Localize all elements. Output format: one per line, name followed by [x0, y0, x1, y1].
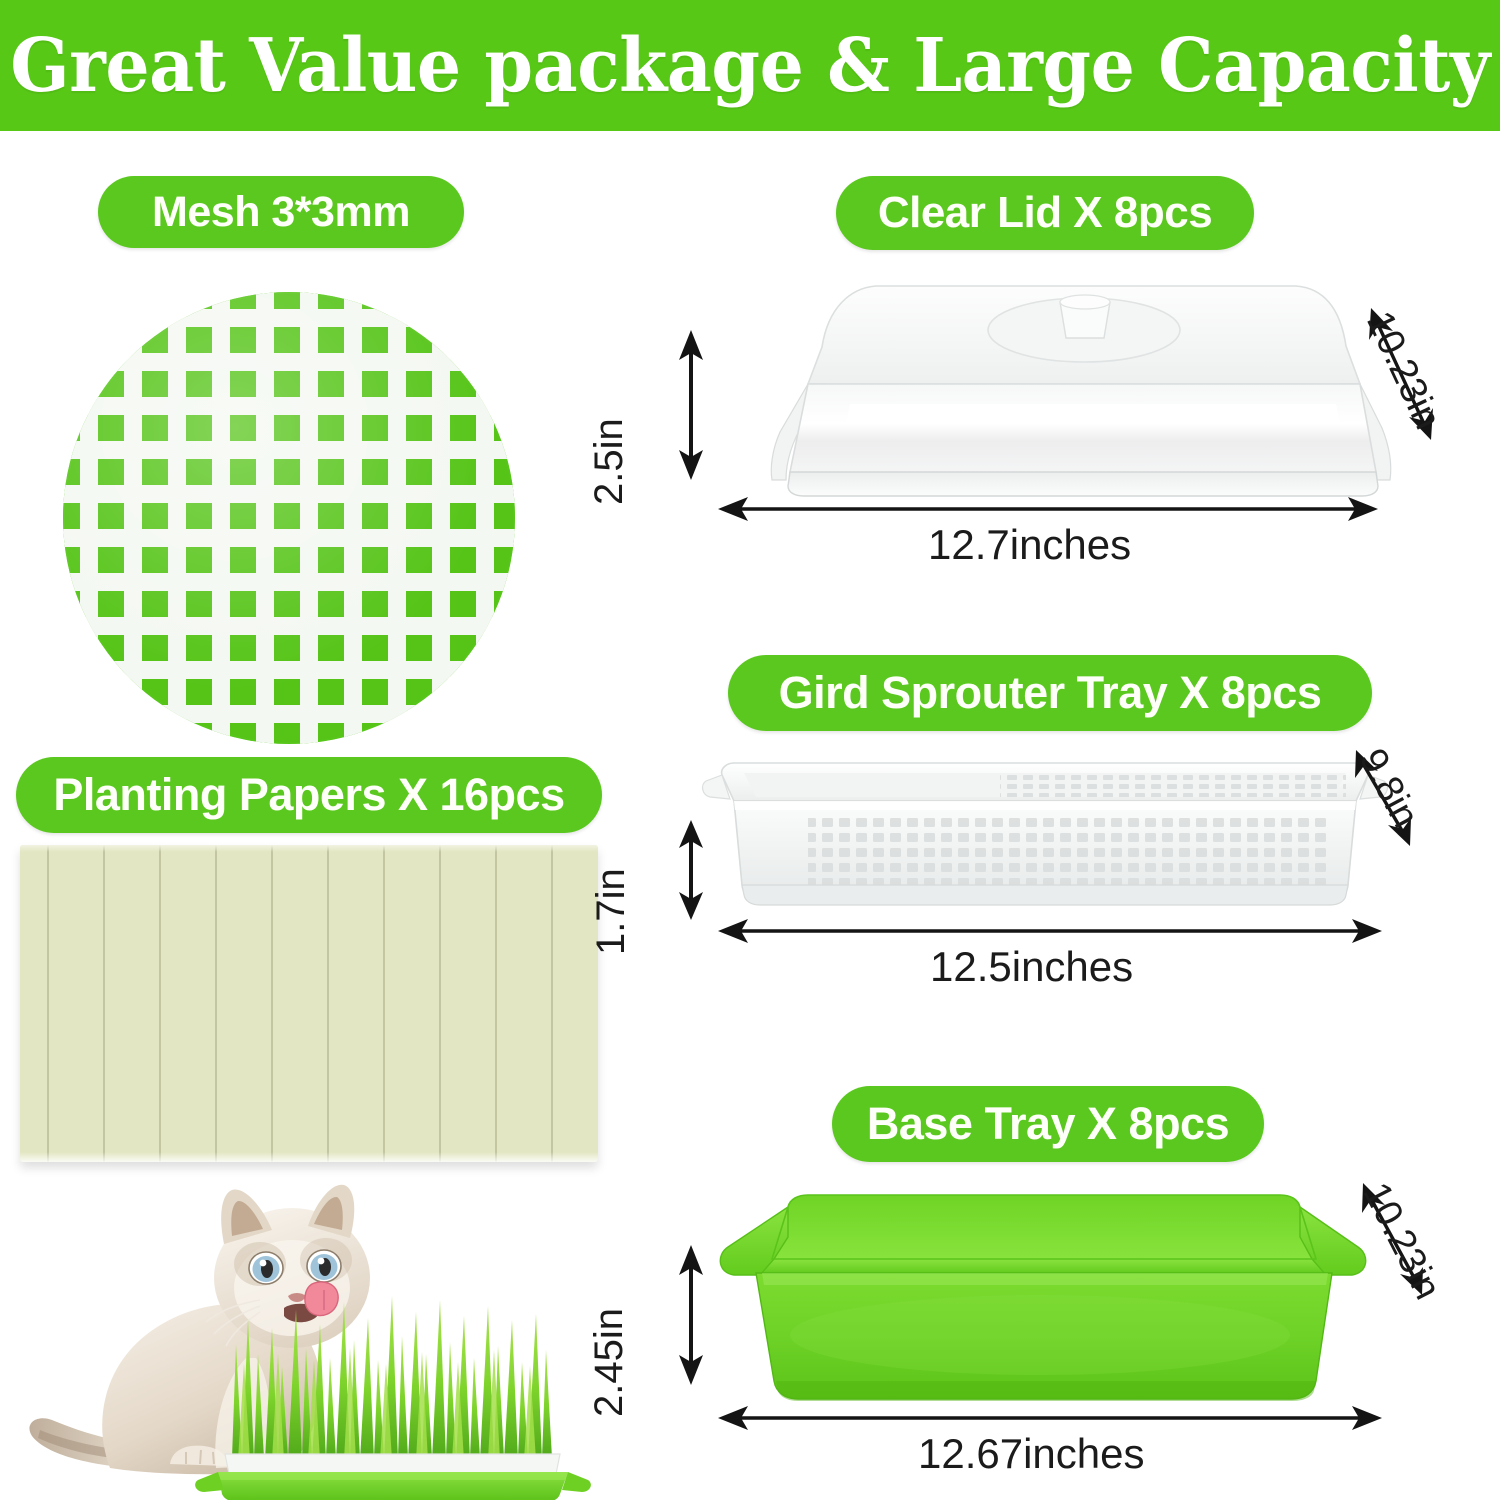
- planting-papers-edges: [20, 845, 598, 1162]
- lid-width-label: 12.7inches: [928, 521, 1131, 569]
- mesh-grid-pattern: [63, 292, 515, 744]
- base-tray-height-arrow: [676, 1245, 706, 1385]
- badge-mesh-label: Mesh 3*3mm: [152, 188, 410, 237]
- badge-mesh: Mesh 3*3mm: [98, 176, 464, 248]
- mesh-circle-image: [63, 292, 515, 744]
- badge-base-tray: Base Tray X 8pcs: [832, 1086, 1264, 1162]
- lid-height-label: 2.5in: [587, 418, 632, 505]
- planting-papers-top-edge: [20, 845, 598, 852]
- header-banner: Great Value package & Large Capacity: [0, 0, 1500, 131]
- badge-planting-papers: Planting Papers X 16pcs: [16, 757, 602, 833]
- badge-clear-lid: Clear Lid X 8pcs: [836, 176, 1254, 250]
- sprouter-tray-width-arrow: [718, 917, 1382, 945]
- sprouter-tray-height-label: 1.7in: [589, 868, 634, 955]
- page-title: Great Value package & Large Capacity: [10, 23, 1490, 109]
- badge-planting-papers-label: Planting Papers X 16pcs: [53, 769, 564, 821]
- badge-gird-sprouter-tray: Gird Sprouter Tray X 8pcs: [728, 655, 1372, 731]
- lid-width-arrow: [718, 495, 1378, 523]
- gird-sprouter-tray-image: [700, 755, 1390, 915]
- mesh-circle: [63, 292, 515, 744]
- infographic-page: Great Value package & Large Capacity Mes…: [0, 0, 1500, 1500]
- planting-papers-bottom-edge: [20, 1152, 598, 1162]
- badge-clear-lid-label: Clear Lid X 8pcs: [878, 188, 1212, 238]
- clear-lid-image: [700, 272, 1400, 502]
- base-tray-width-arrow: [718, 1404, 1382, 1432]
- lid-height-arrow: [676, 330, 706, 480]
- sprouter-tray-height-arrow: [676, 820, 706, 920]
- base-tray-image: [700, 1185, 1384, 1411]
- sprouter-tray-width-label: 12.5inches: [930, 943, 1133, 991]
- badge-gird-sprouter-tray-label: Gird Sprouter Tray X 8pcs: [779, 667, 1322, 719]
- planting-papers-image: [20, 845, 598, 1162]
- base-tray-width-label: 12.67inches: [918, 1430, 1145, 1478]
- base-tray-height-label: 2.45in: [587, 1308, 632, 1417]
- badge-base-tray-label: Base Tray X 8pcs: [867, 1098, 1229, 1150]
- cat-eating-grass-photo: [20, 1168, 580, 1500]
